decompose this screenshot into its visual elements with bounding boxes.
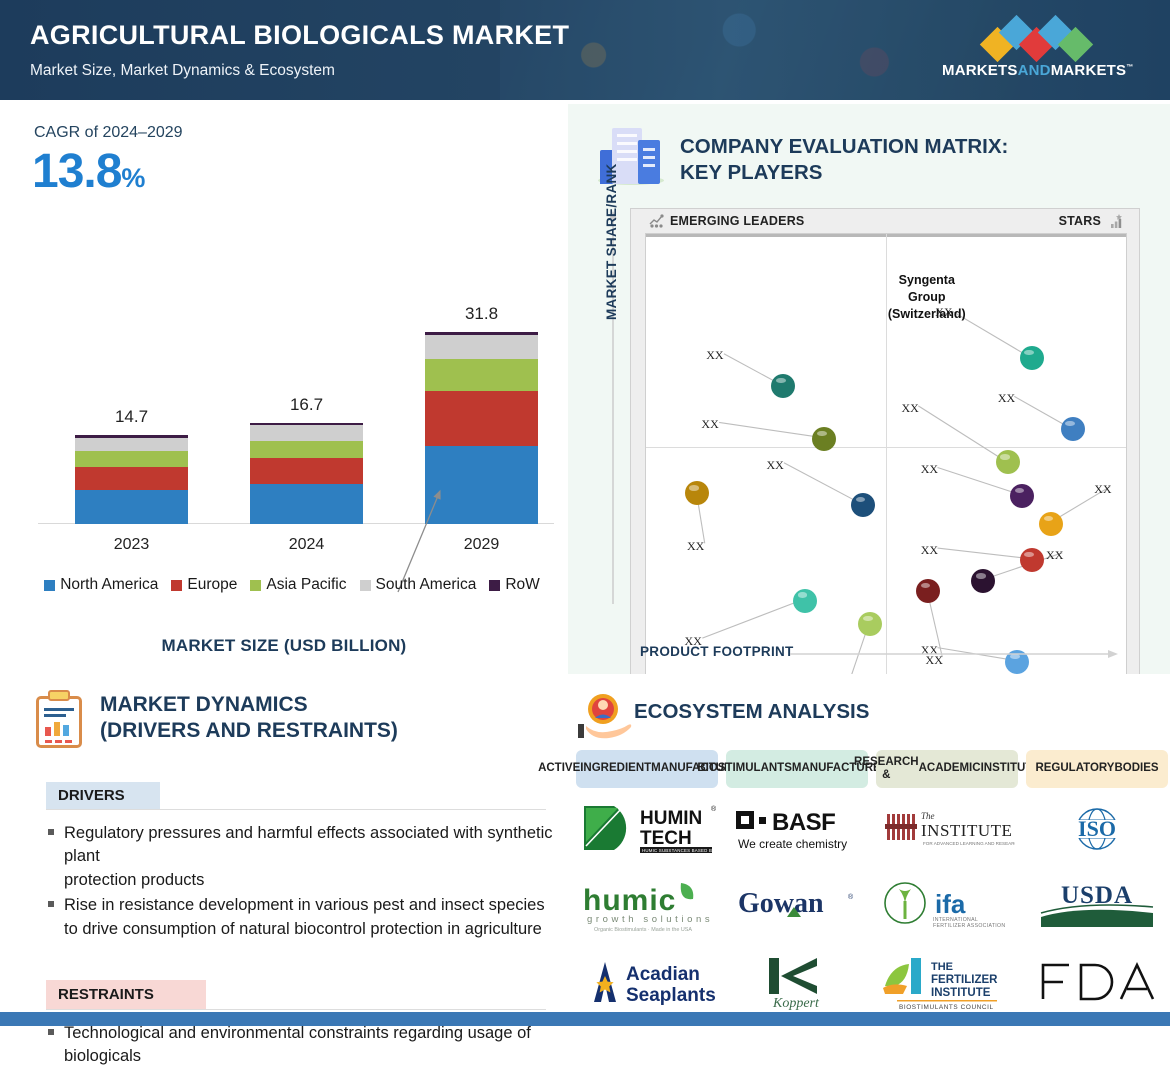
bar-total-label-2023: 14.7: [75, 407, 188, 427]
bubble-label-b8: XX: [921, 462, 938, 477]
svg-text:Acadian: Acadian: [626, 964, 700, 985]
drivers-tab[interactable]: DRIVERS: [46, 782, 160, 809]
bar-segment-north-america: [250, 484, 363, 524]
bullet-text: Technological and environmental constrai…: [64, 1022, 553, 1069]
matrix-bubble-b2[interactable]: [812, 427, 836, 451]
matrix-title: COMPANY EVALUATION MATRIX: KEY PLAYERS: [680, 134, 1150, 185]
drivers-divider: [46, 809, 546, 810]
chart-axis-title: MARKET SIZE (USD BILLION): [0, 636, 568, 656]
bubble-label-b10: XX: [921, 543, 938, 558]
page-subtitle: Market Size, Market Dynamics & Ecosystem: [30, 62, 335, 80]
bubble-highlight: [921, 583, 931, 588]
page-header: AGRICULTURAL BIOLOGICALS MARKET Market S…: [0, 0, 1170, 100]
bullet-item: Regulatory pressures and harmful effects…: [48, 822, 553, 892]
callout-line: Syngenta: [867, 272, 987, 289]
svg-text:Koppert: Koppert: [772, 996, 820, 1010]
svg-text:growth solutions: growth solutions: [587, 914, 713, 925]
x-axis-arrow-icon: [790, 648, 1120, 660]
legend-item-south-america[interactable]: South America: [360, 576, 477, 594]
matrix-title-line2: KEY PLAYERS: [680, 160, 1150, 186]
bar-star-icon: [1107, 214, 1123, 228]
svg-text:ISO: ISO: [1078, 816, 1116, 841]
column-header-line: INGREDIENT: [580, 762, 651, 775]
bubble-highlight: [1044, 516, 1054, 521]
bar-segment-north-america: [75, 490, 188, 524]
logo-wordmark: MARKETSANDMARKETS™: [942, 62, 1132, 79]
company-logo-usda[interactable]: USDA: [1026, 874, 1168, 936]
restraints-list: Technological and environmental constrai…: [48, 1022, 553, 1071]
matrix-bubble-b10[interactable]: [1020, 548, 1044, 572]
logo-tm: ™: [1126, 64, 1133, 71]
svg-text:Gowan: Gowan: [738, 888, 824, 919]
bullet-square-icon: [48, 1029, 54, 1035]
company-logo-the-institute[interactable]: TheINSTITUTEFOR ADVANCED LEARNING AND RE…: [876, 798, 1018, 860]
bubble-label-b6: XX: [998, 391, 1015, 406]
svg-text:FOR ADVANCED LEARNING AND RESE: FOR ADVANCED LEARNING AND RESEARCH: [923, 841, 1015, 846]
bullet-text: Rise in resistance development in variou…: [64, 894, 553, 941]
matrix-top-band: EMERGING LEADERS STARS: [645, 209, 1127, 233]
growth-people-icon: [649, 214, 664, 228]
company-logo-acadian-seaplants[interactable]: AcadianSeaplants: [576, 950, 718, 1012]
company-logo-gowan[interactable]: Gowan®: [726, 874, 868, 936]
svg-text:We create chemistry: We create chemistry: [738, 837, 847, 851]
logo-and: AND: [1018, 62, 1051, 79]
company-logo-basf[interactable]: BASFWe create chemistry: [726, 798, 868, 860]
bubble-highlight: [1015, 488, 1025, 493]
column-header-line: BODIES: [1114, 762, 1158, 775]
callout-line: (Switzerland): [867, 306, 987, 323]
bullet-item: Technological and environmental constrai…: [48, 1022, 553, 1069]
company-logo-humic-growth-solutions[interactable]: humicgrowth solutionsOrganic Biostimulan…: [576, 874, 718, 936]
quadrant-label-emerging-leaders: EMERGING LEADERS: [670, 214, 804, 228]
clipboard-chart-icon: [34, 690, 86, 750]
column-header-line: ACADEMIC: [919, 762, 981, 775]
hand-person-icon: [576, 692, 634, 744]
bubble-label-b9: XX: [1094, 482, 1111, 497]
column-header-line: RESEARCH &: [854, 756, 919, 782]
bubble-label-b3: XX: [687, 539, 704, 554]
bar-segment-asia-pacific: [425, 359, 538, 391]
legend-swatch-icon: [489, 580, 500, 591]
bar-total-label-2024: 16.7: [250, 395, 363, 415]
legend-swatch-icon: [250, 580, 261, 591]
bubble-label-b2: XX: [701, 417, 718, 432]
bar-segment-europe: [250, 458, 363, 485]
legend-swatch-icon: [44, 580, 55, 591]
bubble-highlight: [1065, 421, 1075, 426]
x-tick-2023: 2023: [75, 536, 188, 554]
column-header-line: BIOSTIMULANTS: [697, 762, 792, 775]
matrix-bubble-b7[interactable]: [996, 450, 1020, 474]
bubble-highlight: [776, 378, 786, 383]
matrix-title-line1: COMPANY EVALUATION MATRIX:: [680, 134, 1150, 160]
bubble-label-b4: XX: [767, 458, 784, 473]
bubble-highlight: [863, 616, 873, 621]
bubble-highlight: [976, 573, 986, 578]
svg-text:BIOSTIMULANTS COUNCIL: BIOSTIMULANTS COUNCIL: [899, 1004, 994, 1010]
svg-text:®: ®: [848, 893, 854, 901]
legend-item-north-america[interactable]: North America: [44, 576, 158, 594]
bubble-highlight: [798, 592, 808, 597]
bubble-highlight: [1024, 552, 1034, 557]
column-header-line: ACTIVE: [538, 762, 580, 775]
restraints-tab[interactable]: RESTRAINTS: [46, 980, 206, 1009]
bullet-item: Rise in resistance development in variou…: [48, 894, 553, 941]
market-dynamics-title-line1: MARKET DYNAMICS: [100, 692, 530, 718]
ecosystem-title: ECOSYSTEM ANALYSIS: [634, 700, 869, 724]
bar-segment-asia-pacific: [75, 451, 188, 467]
ecosystem-column-1: BIOSTIMULANTSMANUFACTURERSBASFWe create …: [726, 750, 868, 1012]
matrix-bubble-b13[interactable]: [916, 579, 940, 603]
column-header-line: REGULATORY: [1035, 762, 1114, 775]
bar-segment-north-america: [425, 446, 538, 524]
quadrant-stars: STARS: [1059, 214, 1123, 228]
matrix-bubble-b5[interactable]: [1020, 346, 1044, 370]
bar-segment-europe: [425, 391, 538, 446]
bubble-leader-line: [719, 422, 823, 437]
company-logo-koppert[interactable]: Koppert: [726, 950, 868, 1012]
company-logo-the-fertilizer-institute[interactable]: THEFERTILIZERINSTITUTEBIOSTIMULANTS COUN…: [876, 950, 1018, 1012]
bar-segment-south-america: [75, 438, 188, 451]
legend-swatch-icon: [171, 580, 182, 591]
bubble-leader-line: [938, 548, 1030, 559]
x-tick-2024: 2024: [250, 536, 363, 554]
ecosystem-logo-list: ISOUSDA: [1026, 798, 1168, 1012]
svg-text:Organic Biostimulants · Made: Organic Biostimulants · Made in the USA: [594, 927, 692, 933]
bubble-highlight: [817, 431, 827, 436]
logo-diamonds-icon: [977, 18, 1097, 58]
matrix-bubble-b6[interactable]: [1061, 417, 1085, 441]
svg-text:BASF: BASF: [772, 809, 835, 836]
matrix-bubble-b3[interactable]: [685, 481, 709, 505]
ecosystem-column-header: RESEARCH &ACADEMICINSTITUTE: [876, 750, 1018, 788]
ecosystem-logo-list: TheINSTITUTEFOR ADVANCED LEARNING AND RE…: [876, 798, 1018, 1012]
market-dynamics-title-line2: (DRIVERS AND RESTRAINTS): [100, 718, 530, 744]
cagr-percent-sign: %: [121, 163, 144, 193]
ecosystem-column-header: BIOSTIMULANTSMANUFACTURERS: [726, 750, 868, 788]
bar-2024: [250, 423, 363, 524]
x-tick-2029: 2029: [425, 536, 538, 554]
infographic-page: AGRICULTURAL BIOLOGICALS MARKET Market S…: [0, 0, 1170, 1026]
legend-item-europe[interactable]: Europe: [171, 576, 237, 594]
legend-label: South America: [376, 576, 477, 594]
footer-bar: [0, 1012, 1170, 1026]
svg-text:FERTILIZER: FERTILIZER: [931, 974, 998, 986]
legend-swatch-icon: [360, 580, 371, 591]
svg-text:HUMIN: HUMIN: [640, 808, 702, 829]
bubble-leader-line: [918, 406, 1006, 462]
ecosystem-column-0: ACTIVEINGREDIENTMANUFACTURERSHUMINTECH®H…: [576, 750, 718, 1012]
logo-markets-1: MARKETS: [942, 62, 1018, 79]
ecosystem-columns: ACTIVEINGREDIENTMANUFACTURERSHUMINTECH®H…: [576, 750, 1164, 1012]
brand-logo[interactable]: MARKETSANDMARKETS™: [942, 18, 1132, 86]
svg-text:THE: THE: [931, 961, 953, 973]
svg-text:humic: humic: [583, 884, 676, 917]
svg-text:®: ®: [711, 805, 716, 813]
quadrant-emerging-leaders: EMERGING LEADERS: [649, 214, 804, 228]
company-logo-fda[interactable]: [1026, 950, 1168, 1012]
ecosystem-logo-list: HUMINTECH®HUMIC SUBSTANCES BASED BIOSTIM…: [576, 798, 718, 1012]
left-panel: CAGR of 2024–2029 13.8% 14.716.731.8 202…: [0, 104, 568, 1004]
bubble-label-b14: XX: [1046, 548, 1063, 563]
legend-label: Europe: [187, 576, 237, 594]
bullet-text: Regulatory pressures and harmful effects…: [64, 822, 553, 892]
bar-2023: [75, 435, 188, 524]
bubble-highlight: [689, 485, 699, 490]
market-size-bar-chart: 14.716.731.8: [20, 284, 560, 524]
svg-text:FERTILIZER ASSOCIATION: FERTILIZER ASSOCIATION: [933, 923, 1005, 929]
ecosystem-column-3: REGULATORYBODIESISOUSDA: [1026, 750, 1168, 1012]
chart-legend: North AmericaEuropeAsia PacificSouth Ame…: [22, 576, 562, 594]
matrix-bubble-b11[interactable]: [793, 589, 817, 613]
matrix-x-axis-label: PRODUCT FOOTPRINT: [640, 644, 794, 659]
svg-text:Seaplants: Seaplants: [626, 985, 716, 1006]
restraints-divider: [46, 1009, 546, 1010]
bar-2029: [425, 332, 538, 524]
legend-label: RoW: [505, 576, 539, 594]
bubble-label-b1: XX: [706, 348, 723, 363]
company-logo-iso[interactable]: ISO: [1026, 798, 1168, 860]
matrix-plot-area: XXXXXXXXXXXXXXXXXXXXXXXXXXXXXX SyngentaG…: [645, 233, 1127, 709]
cagr-value: 13.8%: [32, 144, 144, 199]
bar-segment-south-america: [250, 425, 363, 441]
bullet-square-icon: [48, 829, 54, 835]
syngenta-callout: SyngentaGroup(Switzerland): [867, 272, 987, 323]
company-logo-humintech[interactable]: HUMINTECH®HUMIC SUBSTANCES BASED BIOSTIM…: [576, 798, 718, 860]
page-title: AGRICULTURAL BIOLOGICALS MARKET: [30, 20, 569, 51]
bubble-leader-line: [702, 599, 804, 638]
svg-text:INSTITUTE: INSTITUTE: [931, 987, 991, 999]
legend-label: Asia Pacific: [266, 576, 346, 594]
bubble-label-b7: XX: [901, 401, 918, 416]
bullet-square-icon: [48, 901, 54, 907]
matrix-y-axis-label: MARKET SHARE/RANK: [604, 163, 619, 320]
svg-text:HUMIC SUBSTANCES BASED BIOSTIM: HUMIC SUBSTANCES BASED BIOSTIMULANTS: [642, 848, 716, 853]
ecosystem-panel: ECOSYSTEM ANALYSIS ACTIVEINGREDIENTMANUF…: [568, 674, 1170, 1004]
company-logo-ifa-international-fertilizer-association[interactable]: ifaINTERNATIONALFERTILIZER ASSOCIATION: [876, 874, 1018, 936]
legend-label: North America: [60, 576, 158, 594]
svg-text:ifa: ifa: [935, 889, 966, 919]
drivers-list: Regulatory pressures and harmful effects…: [48, 822, 553, 943]
matrix-bubble-b8[interactable]: [1010, 484, 1034, 508]
bar-segment-south-america: [425, 335, 538, 359]
bar-segment-europe: [75, 467, 188, 491]
ecosystem-column-2: RESEARCH &ACADEMICINSTITUTETheINSTITUTEF…: [876, 750, 1018, 1012]
bubble-highlight: [1000, 454, 1010, 459]
bubble-highlight: [1024, 350, 1034, 355]
company-evaluation-panel: COMPANY EVALUATION MATRIX: KEY PLAYERS E…: [568, 104, 1170, 674]
market-dynamics-title: MARKET DYNAMICS (DRIVERS AND RESTRAINTS): [100, 692, 530, 745]
bubble-highlight: [856, 497, 866, 502]
svg-text:TECH: TECH: [640, 828, 692, 849]
logo-markets-2: MARKETS: [1051, 62, 1127, 79]
svg-text:INSTITUTE: INSTITUTE: [921, 821, 1012, 840]
ecosystem-column-header: REGULATORYBODIES: [1026, 750, 1168, 788]
quadrant-label-stars: STARS: [1059, 214, 1101, 228]
callout-line: Group: [867, 289, 987, 306]
cagr-number: 13.8: [32, 145, 121, 198]
bar-segment-asia-pacific: [250, 441, 363, 458]
legend-item-row[interactable]: RoW: [489, 576, 539, 594]
bubble-leader-line: [784, 463, 862, 504]
cagr-label: CAGR of 2024–2029: [34, 124, 183, 142]
legend-item-asia-pacific[interactable]: Asia Pacific: [250, 576, 346, 594]
svg-text:The: The: [921, 811, 935, 821]
bar-total-label-2029: 31.8: [425, 304, 538, 324]
ecosystem-logo-list: BASFWe create chemistryGowan®Koppert: [726, 798, 868, 1012]
